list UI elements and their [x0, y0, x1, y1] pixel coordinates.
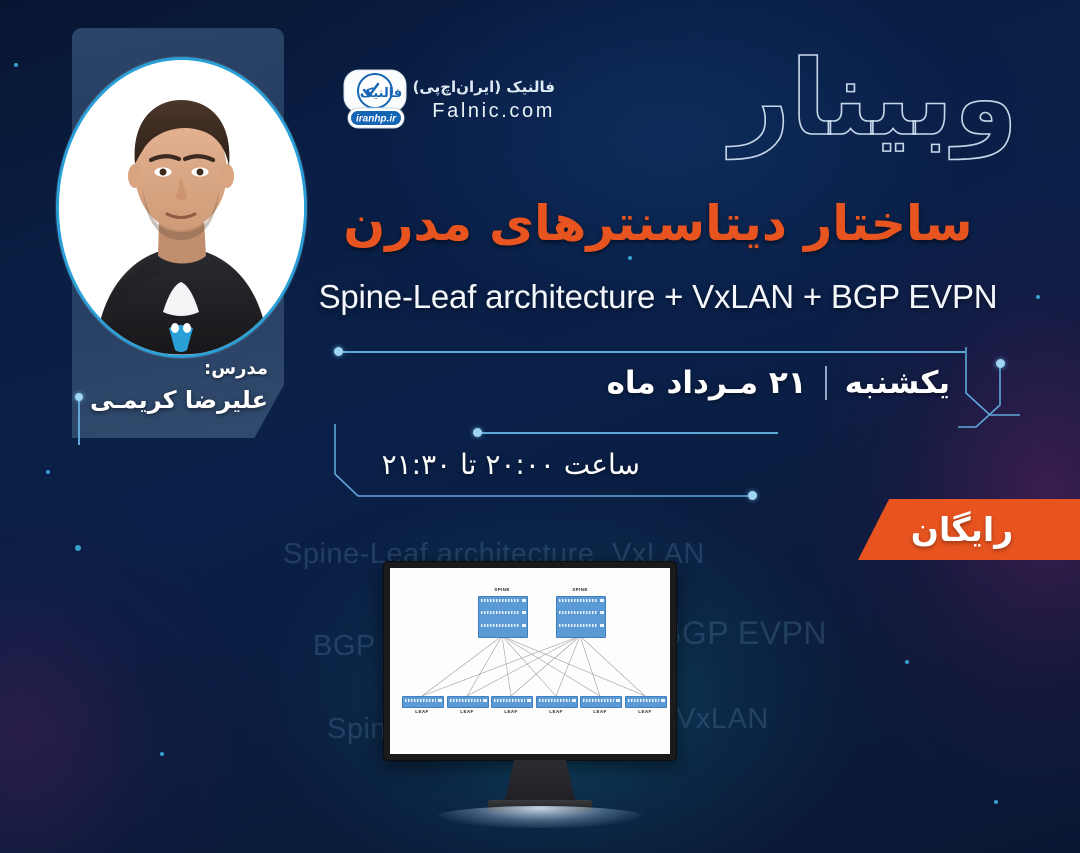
leaf-switch-5 — [580, 696, 622, 708]
webinar-outline-title: وبینار — [730, 46, 1018, 150]
schedule-date-row: یکشنبه ۲۱ مـرداد ماه — [607, 365, 950, 401]
speaker-accent-dot — [75, 393, 83, 401]
watermark-text: VxLAN — [676, 703, 769, 736]
star-dot — [14, 63, 18, 67]
brand-persian-name: فالنیک (ایران‌اچ‌پی) — [413, 78, 555, 96]
star-dot — [994, 800, 998, 804]
star-dot — [628, 256, 632, 260]
falnic-shield-logo: فالنیک iranhp.ir — [340, 68, 410, 134]
star-dot — [1036, 295, 1040, 299]
monitor-stand-base — [436, 806, 644, 828]
page-subtitle: Spine-Leaf architecture + VxLAN + BGP EV… — [308, 278, 1008, 316]
avatar — [59, 60, 304, 355]
spine-switch-1 — [478, 596, 528, 638]
page-title: ساختار دیتاسنترهای مدرن — [308, 196, 1008, 252]
star-dot — [905, 660, 909, 664]
leaf-switch-1 — [402, 696, 444, 708]
schedule-weekday: یکشنبه — [845, 365, 950, 401]
date-top-line — [340, 351, 965, 353]
monitor-stand-neck — [504, 760, 576, 804]
leaf-switch-6 — [625, 696, 667, 708]
monitor-mockup: SPINESPINELEAFLEAFLEAFLEAFLEAFLEAF — [383, 561, 677, 761]
spine-switch-2 — [556, 596, 606, 638]
iranhp-badge-logo: iranhp.ir — [348, 108, 404, 128]
spine-label-1: SPINE — [472, 587, 532, 592]
star-dot — [75, 545, 81, 551]
leaf-switch-2 — [447, 696, 489, 708]
speaker-name: علیرضا کریمـی — [72, 386, 268, 414]
leaf-switch-3 — [491, 696, 533, 708]
speaker-photo — [56, 57, 307, 358]
webinar-poster: Spine-Leaf architectureVxLANBGP EVPNBGP … — [0, 0, 1080, 853]
speaker-role-label: مدرس: — [72, 358, 268, 379]
leaf-label-6: LEAF — [615, 709, 670, 714]
time-right-dot — [748, 491, 757, 500]
free-badge-label: رایگان — [858, 499, 1080, 560]
watermark-text: BGP EVPN — [660, 615, 827, 652]
star-dot — [46, 470, 50, 474]
svg-text:iranhp.ir: iranhp.ir — [356, 114, 397, 125]
leaf-switch-4 — [536, 696, 578, 708]
date-right-dot — [996, 359, 1005, 368]
spine-label-2: SPINE — [550, 587, 610, 592]
schedule-time: ساعت ۲۰:۰۰ تا ۲۱:۳۰ — [382, 448, 640, 481]
speaker-accent-line — [78, 397, 80, 445]
monitor-screen: SPINESPINELEAFLEAFLEAFLEAFLEAFLEAF — [390, 568, 670, 754]
schedule-separator — [825, 366, 827, 400]
date-right-elbow — [958, 355, 1020, 455]
star-dot — [160, 752, 164, 756]
brand-domain: Falnic.com — [432, 100, 555, 123]
spine-leaf-diagram — [390, 568, 670, 754]
date-top-dot — [334, 347, 343, 356]
schedule-date: ۲۱ مـرداد ماه — [607, 365, 807, 401]
